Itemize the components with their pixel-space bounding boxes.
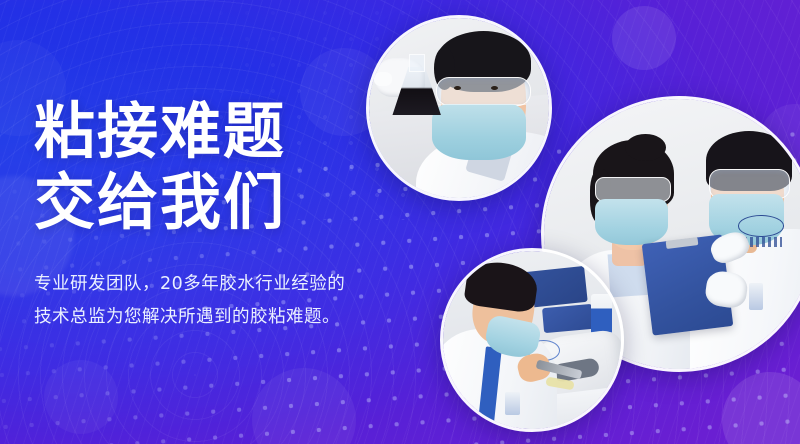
photo-scene <box>443 251 621 429</box>
copy-block: 粘接难题 交给我们 专业研发团队，20多年胶水行业经验的 技术总监为您解决所遇到… <box>34 96 394 334</box>
photo-scene <box>369 18 549 198</box>
subtitle-line-2: 技术总监为您解决所遇到的胶粘难题。 <box>34 301 394 334</box>
bubble-decoration-bottom-right <box>722 372 800 444</box>
bubble-decoration-bottom-mid <box>252 368 356 444</box>
bubble-decoration-top-right <box>612 6 676 70</box>
female-face-mask <box>595 199 668 245</box>
headline-line-2-wrapper: 交给我们 <box>34 167 394 238</box>
subtitle-line-1: 专业研发团队，20多年胶水行业经验的 <box>34 268 394 301</box>
glove-finger <box>374 72 392 86</box>
photo-technician-applying-adhesive <box>440 248 624 432</box>
id-badge <box>505 392 519 415</box>
headline-underline-wrapper: 交给我们 <box>34 167 286 238</box>
beaker-neck <box>409 54 425 72</box>
female-hair-bun <box>625 134 666 161</box>
female-safety-goggles <box>595 177 671 201</box>
id-badge <box>749 283 763 310</box>
face-mask <box>432 104 526 160</box>
blue-display-panel-secondary <box>542 304 594 333</box>
bubble-decoration-bottom-left <box>44 360 118 434</box>
headline-line-2: 交给我们 <box>34 167 286 238</box>
subtitle-block: 专业研发团队，20多年胶水行业经验的 技术总监为您解决所遇到的胶粘难题。 <box>34 268 394 334</box>
safety-goggles <box>436 77 531 106</box>
brand-logo-oval-icon <box>738 215 784 237</box>
headline-line-1: 粘接难题 <box>34 96 394 167</box>
promo-banner: 粘接难题 交给我们 专业研发团队，20多年胶水行业经验的 技术总监为您解决所遇到… <box>0 0 800 444</box>
